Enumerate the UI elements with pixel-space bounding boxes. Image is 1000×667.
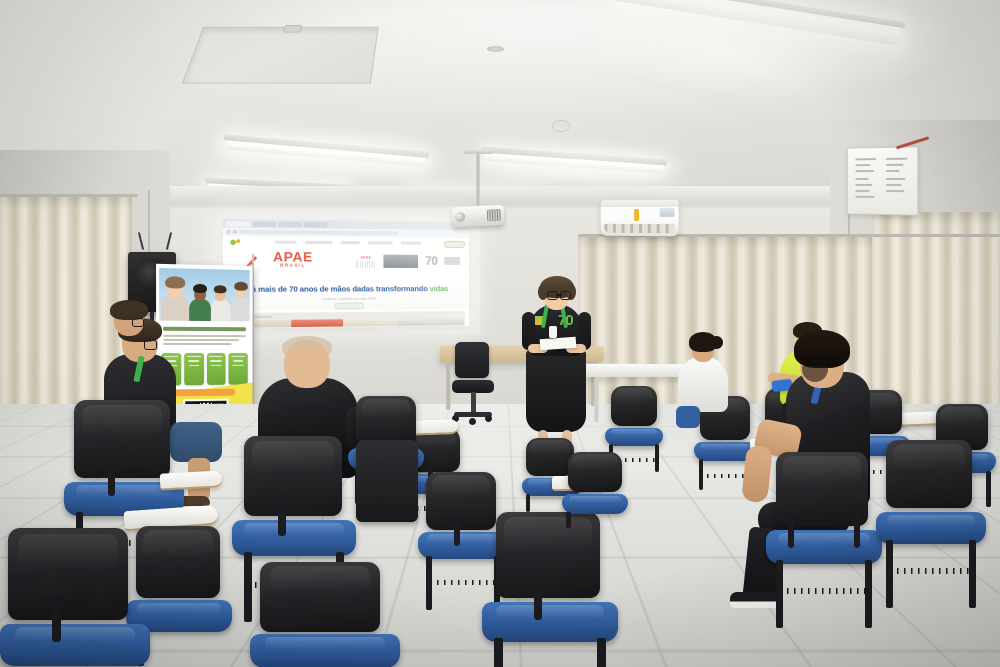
attendee-hair [794,330,850,368]
apae-brand: APAE BRASIL [273,251,313,268]
projection-screen: APAE BRASIL APAE 70 Há mais de 70 anos d… [223,219,469,329]
classroom-photo: APAE BRASIL APAE 70 Há mais de 70 anos d… [0,0,1000,667]
presenter-badge [549,326,557,338]
ac-louver [604,224,674,233]
attendee-left-front [92,300,162,360]
presenter-skirt [526,350,586,432]
projector-mount-pole [476,152,480,208]
ceiling-fixture-dot [487,46,504,52]
projector [452,205,505,228]
banner-photo [159,268,250,321]
video-thumb [397,318,464,326]
attendee-leg [676,406,700,428]
hero-headline: Há mais de 70 anos de mãos dadas transfo… [246,284,448,294]
partner-logo-dark [383,254,418,267]
video-section [233,311,465,329]
hero-cta-button[interactable] [335,303,364,309]
website-content: APAE BRASIL APAE 70 Há mais de 70 anos d… [223,236,469,329]
site-hero: APAE BRASIL APAE 70 [223,248,469,284]
headline-main-text: Há mais de 70 anos de mãos dadas transfo… [246,284,428,294]
chair[interactable] [766,452,882,632]
attendee-shirt-white [678,356,728,412]
hero-subheadline: Conheça o trabalho da rede APAE [322,296,376,300]
chair[interactable] [482,512,618,667]
apae-brand-name: APAE [273,251,313,263]
air-conditioner-unit [601,200,679,237]
partner-logo-gray [445,257,461,265]
backpack[interactable] [356,440,418,522]
attendee-hair [110,300,148,320]
chair[interactable] [250,562,400,667]
chair[interactable] [560,452,630,528]
attendee-white-shirt [676,330,736,460]
video-thumb [291,319,342,327]
banner-card [229,353,248,385]
projector-vent [487,209,502,222]
site-cta-button[interactable] [444,240,465,247]
smoke-detector-icon [552,120,570,132]
site-logo-icon [228,238,247,247]
ac-display-panel [660,208,675,217]
chair[interactable] [876,440,986,616]
partner-logo-row: APAE 70 [356,253,461,268]
ceiling-access-hatch [182,27,379,84]
electrical-distribution-panel [847,146,919,215]
attendee-hair-thin [282,336,332,358]
banner-card [184,353,204,385]
chair[interactable] [0,528,150,667]
banner-card [206,353,225,385]
attendee-hair-bun [710,336,723,349]
partner-logo-red: APAE [356,255,377,266]
anniversary-70-mark: 70 [425,254,437,268]
office-swivel-chair[interactable] [452,342,494,432]
ac-badge [634,209,639,221]
ceiling-beam [150,186,850,204]
video-thumb [343,319,398,327]
headline-accent-text: vidas [430,284,448,293]
projector-lens-icon [455,212,466,223]
hero-headline-band: Há mais de 70 anos de mãos dadas transfo… [223,283,469,311]
